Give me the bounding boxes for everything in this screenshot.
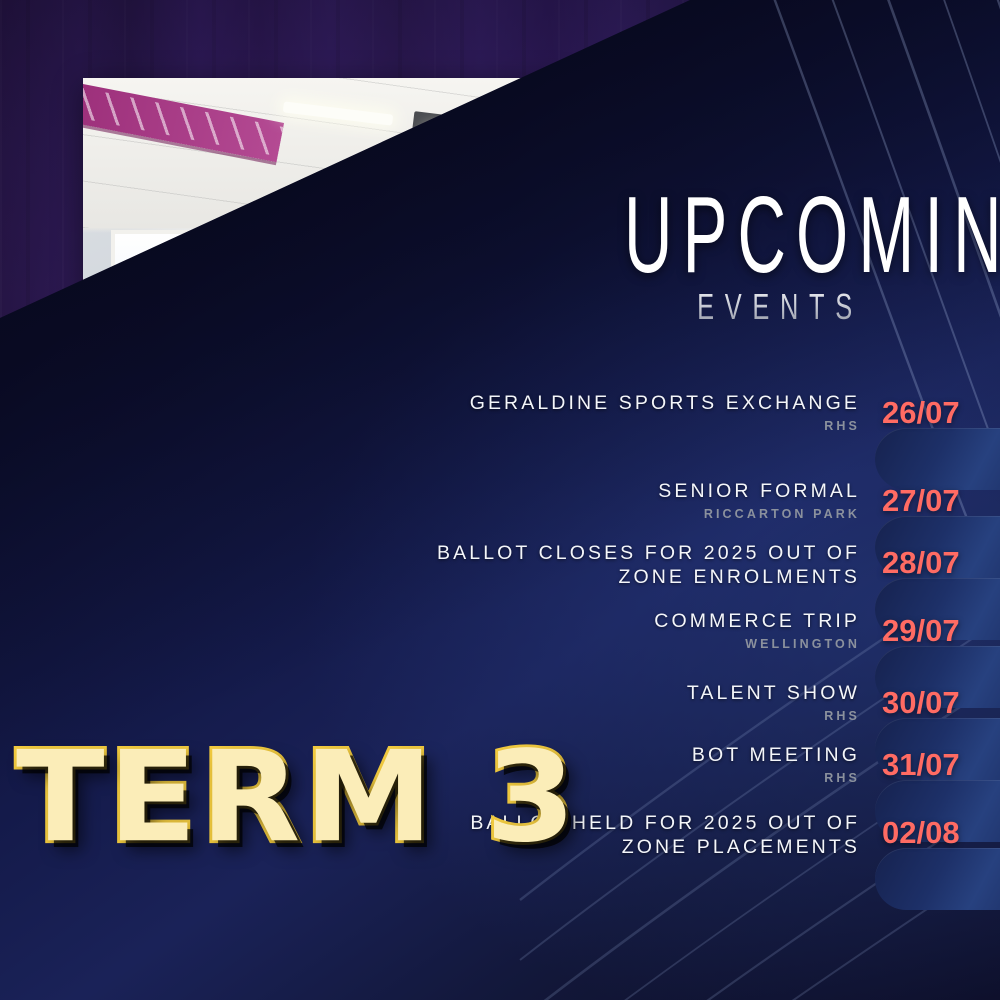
poster-heading: UPCOMING EVENTS (580, 185, 980, 325)
event-location: RICCARTON PARK (430, 507, 860, 521)
event-location: RHS (430, 419, 860, 433)
event-row[interactable]: BALLOT CLOSES FOR 2025 OUT OF ZONE ENROL… (430, 542, 860, 590)
event-title: TALENT SHOW (430, 682, 860, 706)
event-row[interactable]: SENIOR FORMALRICCARTON PARK (430, 480, 860, 521)
event-row[interactable]: COMMERCE TRIPWELLINGTON (430, 610, 860, 651)
term-banner: TERM 3 (16, 735, 735, 860)
event-title: BALLOT CLOSES FOR 2025 OUT OF ZONE ENROL… (430, 542, 860, 590)
event-row[interactable]: TALENT SHOWRHS (430, 682, 860, 723)
event-title: GERALDINE SPORTS EXCHANGE (430, 392, 860, 416)
event-title: SENIOR FORMAL (430, 480, 860, 504)
upcoming-events-poster: UPCOMING EVENTS 26/0727/0728/0729/0730/0… (0, 0, 1000, 1000)
event-location: WELLINGTON (430, 637, 860, 651)
event-title: COMMERCE TRIP (430, 610, 860, 634)
page-subtitle: EVENTS (616, 285, 944, 327)
page-title: UPCOMING (624, 185, 936, 288)
event-location: RHS (430, 709, 860, 723)
event-row[interactable]: GERALDINE SPORTS EXCHANGERHS (430, 392, 860, 433)
